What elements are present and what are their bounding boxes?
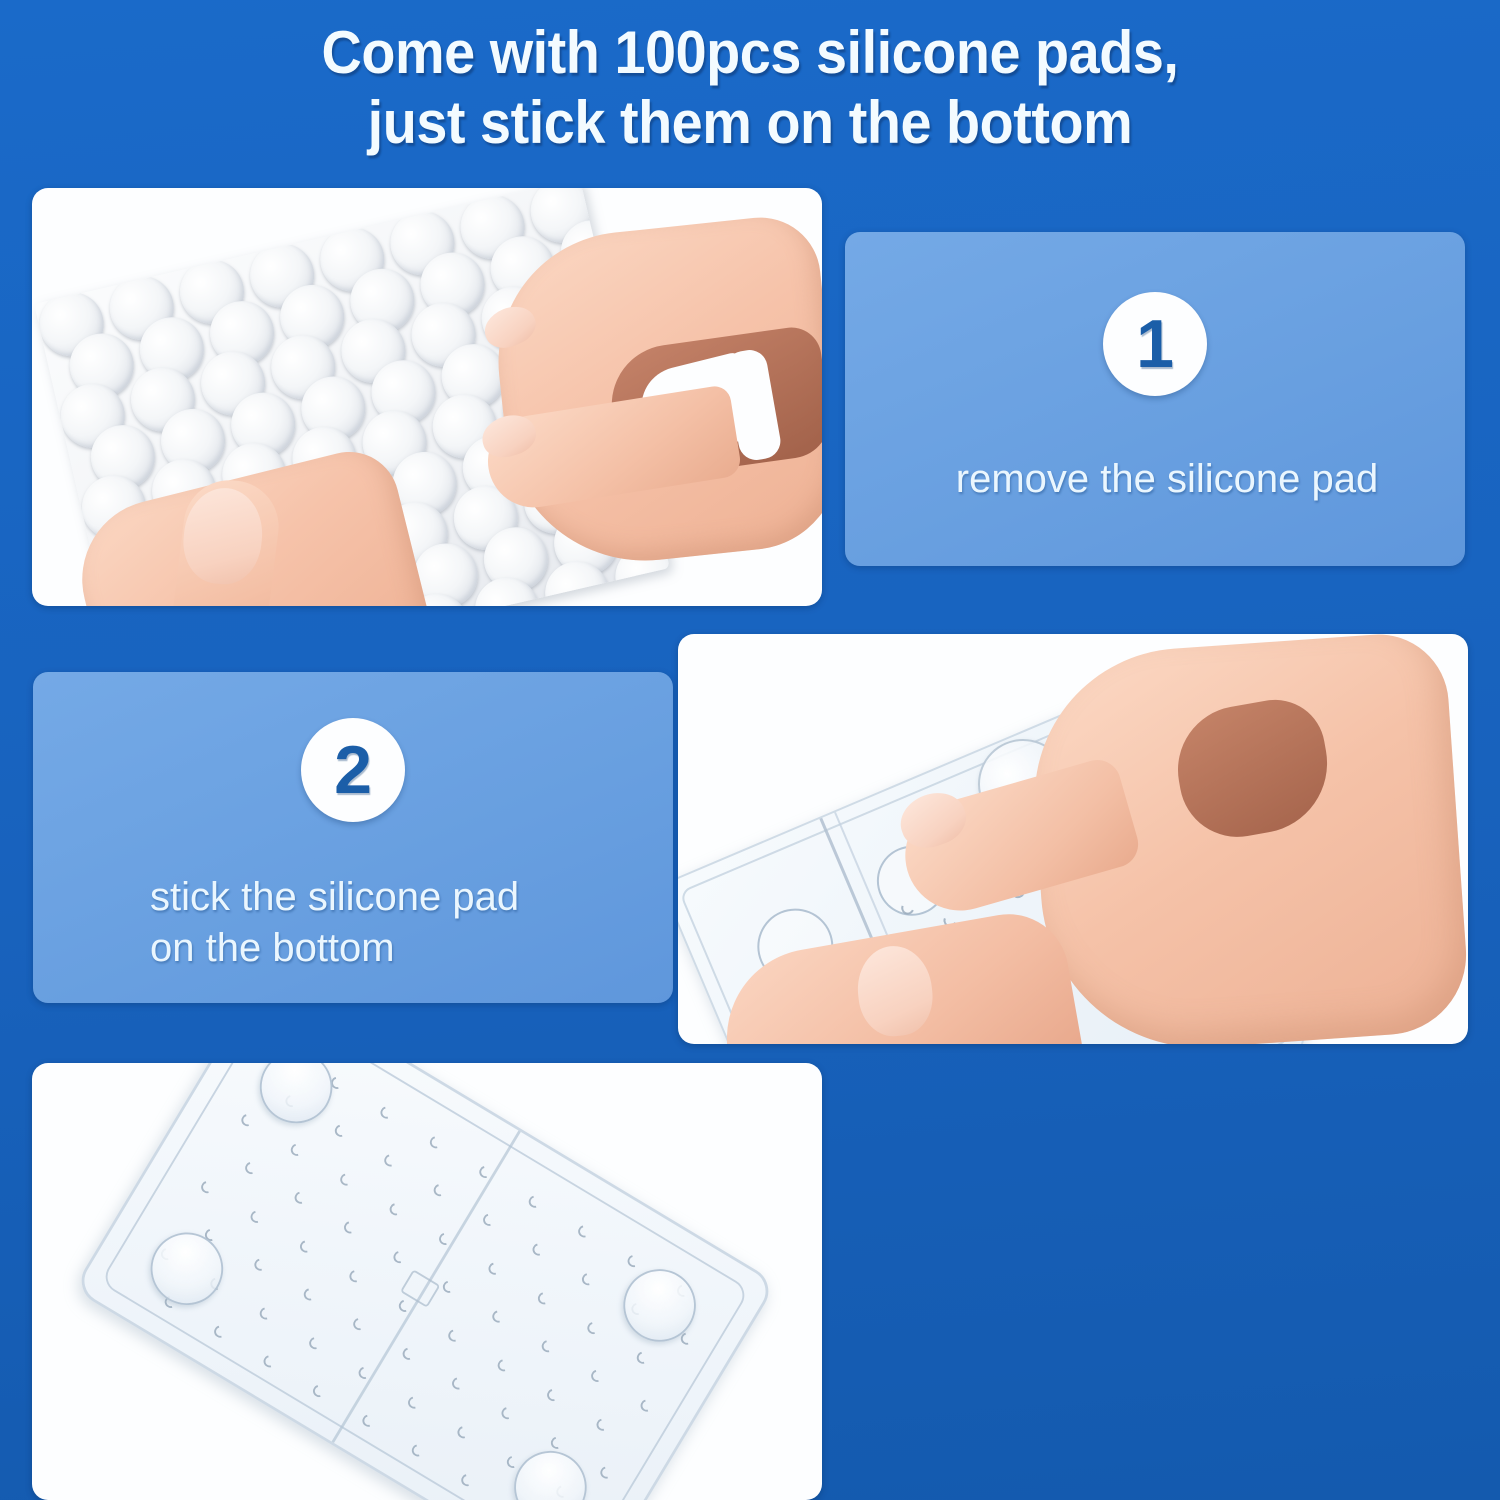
step-2-caption: stick the silicone pad on the bottom [150, 872, 650, 974]
step-2-badge: 2 [301, 718, 405, 822]
step-1-card: 1 remove the silicone pad [845, 232, 1465, 566]
page-title: Come with 100pcs silicone pads, just sti… [53, 18, 1448, 158]
page-title-line-2: just stick them on the bottom [53, 88, 1448, 158]
step-3-photo [32, 1063, 822, 1500]
step-2-photo [678, 634, 1468, 1044]
page-title-line-1: Come with 100pcs silicone pads, [53, 18, 1448, 88]
step-1-badge: 1 [1103, 292, 1207, 396]
infographic-page: Come with 100pcs silicone pads, just sti… [0, 0, 1500, 1500]
step-1-photo [32, 188, 822, 606]
step-1-caption: remove the silicone pad [907, 454, 1427, 505]
clear-tray-underside [73, 1063, 778, 1500]
step-2-card: 2 stick the silicone pad on the bottom [33, 672, 673, 1003]
